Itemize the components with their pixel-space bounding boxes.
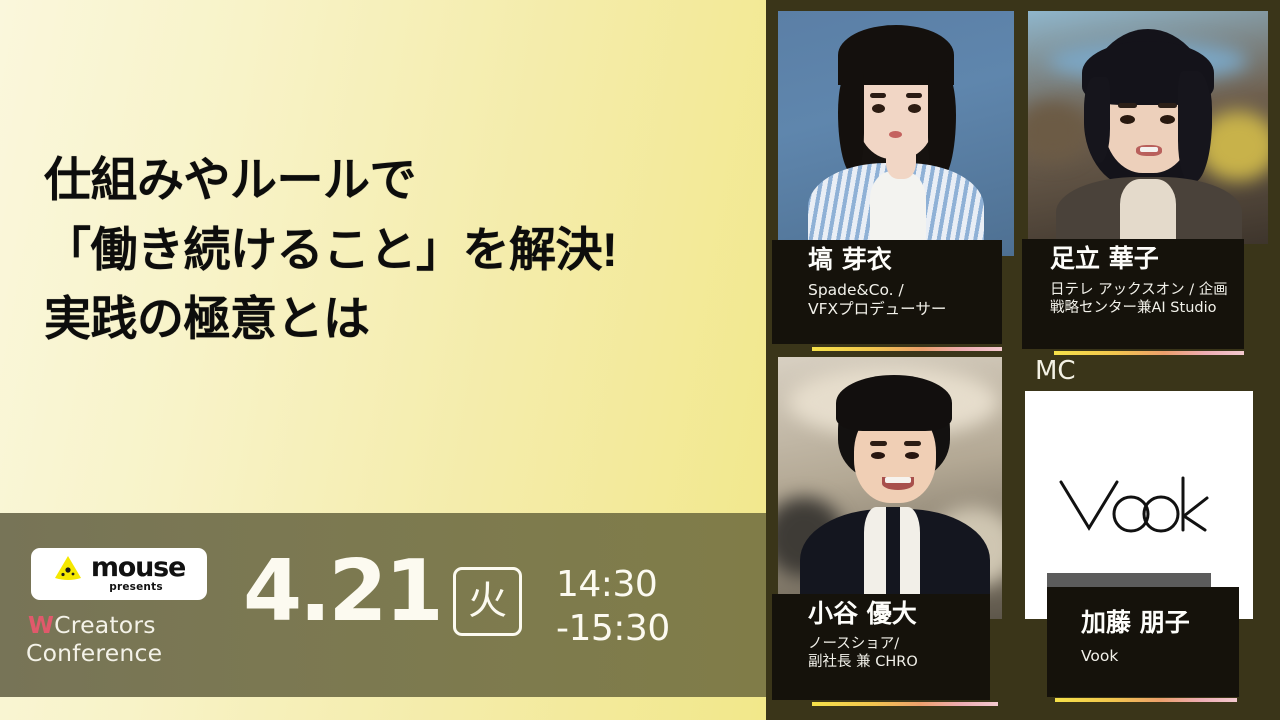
speaker-card-2[interactable]: 足立 華子 日テレ アックスオン / 企画 戦略センター兼AI Studio <box>1028 11 1268 354</box>
event-weekday-badge: 火 <box>453 567 522 636</box>
event-weekday-label: 火 <box>468 582 507 621</box>
speaker-accent-strip-4 <box>1055 698 1237 702</box>
speaker-photo-3 <box>778 357 1002 619</box>
vook-logo-icon <box>1055 472 1223 538</box>
sponsor-logo: mouse presents <box>31 548 207 600</box>
mouse-triangle-icon <box>53 554 83 582</box>
speaker-accent-strip-1 <box>812 347 1002 351</box>
speaker-photo-2 <box>1028 11 1268 244</box>
speaker-name-2: 足立 華子 <box>1050 245 1244 273</box>
event-time-start: 14:30 <box>556 563 670 607</box>
speaker-accent-strip-2 <box>1054 351 1244 355</box>
speaker-accent-strip-3 <box>812 702 998 706</box>
conference-title-line2: Conference <box>26 640 228 668</box>
speaker-card-3[interactable]: 小谷 優大 ノースショア/ 副社長 兼 CHRO <box>778 357 1002 709</box>
speaker-nameplate-4: 加藤 朋子 Vook <box>1047 587 1239 697</box>
slide-canvas: 仕組みやルールで 「働き続けること」を解決! 実践の極意とは mouse pre… <box>0 0 1280 720</box>
speaker-name-4: 加藤 朋子 <box>1081 609 1239 637</box>
conference-title-line1: Creators <box>54 611 156 639</box>
speaker-role-3: ノースショア/ 副社長 兼 CHRO <box>808 635 990 672</box>
mc-label: MC <box>1035 358 1076 384</box>
conference-title-w: W <box>28 611 54 639</box>
speaker-card-4[interactable]: 加藤 朋子 Vook <box>1025 391 1265 709</box>
speaker-role-2: 日テレ アックスオン / 企画 戦略センター兼AI Studio <box>1050 281 1244 318</box>
event-date: 4.21 <box>243 549 441 634</box>
speaker-nameplate-1: 塙 芽衣 Spade&Co. / VFXプロデューサー <box>772 240 1002 344</box>
event-time-end: -15:30 <box>556 607 670 651</box>
sponsor-logo-text: mouse <box>91 554 185 581</box>
speaker-card-1[interactable]: 塙 芽衣 Spade&Co. / VFXプロデューサー <box>778 11 1014 348</box>
speaker-name-3: 小谷 優大 <box>808 600 990 628</box>
page-title: 仕組みやルールで 「働き続けること」を解決! 実践の極意とは <box>44 145 744 354</box>
sponsor-presents-label: presents <box>109 581 163 593</box>
speaker-role-1: Spade&Co. / VFXプロデューサー <box>808 281 1002 321</box>
event-time: 14:30 -15:30 <box>556 563 670 652</box>
speaker-nameplate-3: 小谷 優大 ノースショア/ 副社長 兼 CHRO <box>772 594 990 700</box>
conference-title: WCreators Conference <box>28 612 228 667</box>
speaker-name-1: 塙 芽衣 <box>808 246 1002 274</box>
speaker-role-4: Vook <box>1081 647 1239 667</box>
speaker-nameplate-2: 足立 華子 日テレ アックスオン / 企画 戦略センター兼AI Studio <box>1022 239 1244 349</box>
speaker-photo-1 <box>778 11 1014 256</box>
